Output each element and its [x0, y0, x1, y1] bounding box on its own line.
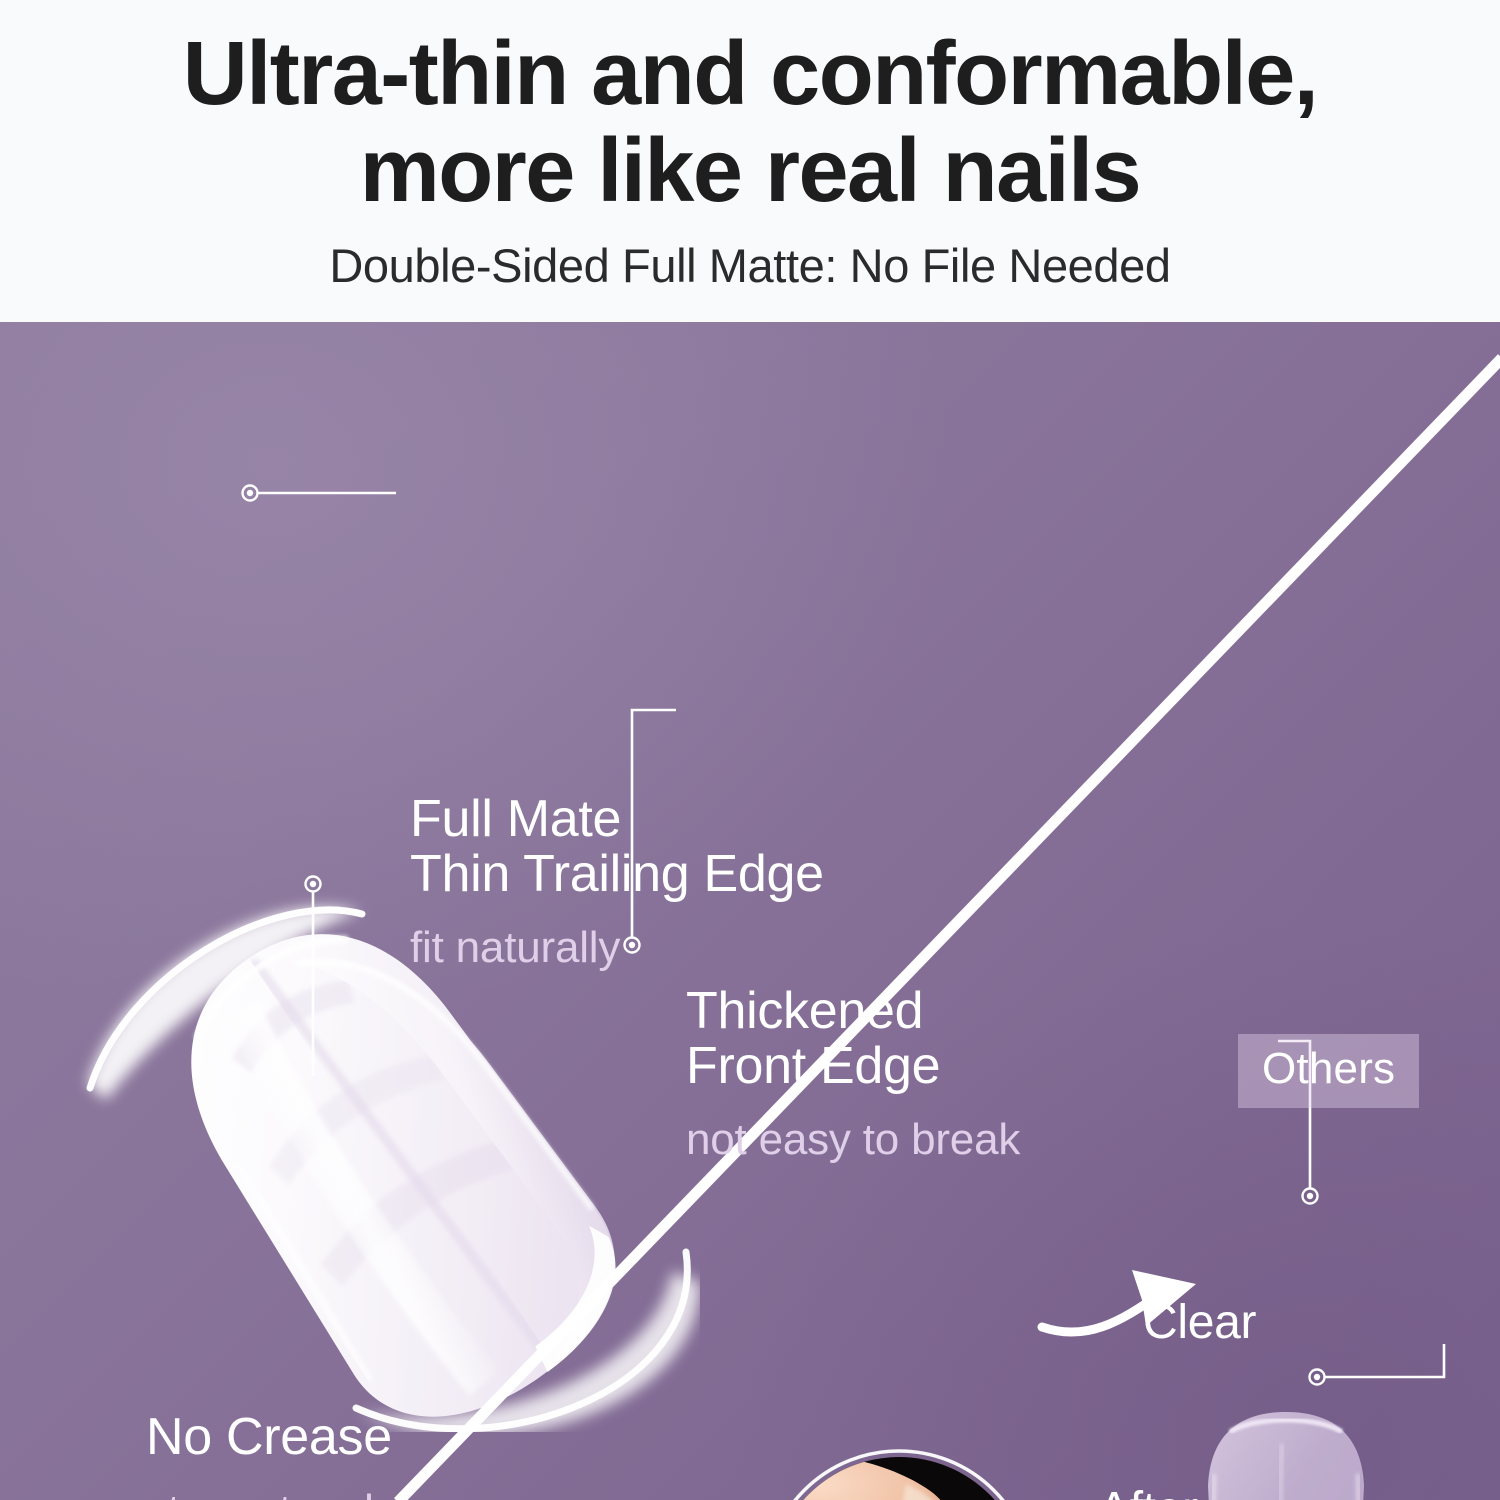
header-banner: Ultra-thin and conformable, more like re…: [0, 0, 1500, 322]
no-crease-sub: strong toughness: [146, 1487, 480, 1500]
label-thickened-front-edge: Thickened Front Edge not easy to break: [686, 984, 1020, 1165]
callout-abs: [1310, 1344, 1445, 1385]
page-title: Ultra-thin and conformable, more like re…: [40, 26, 1460, 220]
photo-content: [754, 1440, 1044, 1500]
thickened-title-2: Front Edge: [686, 1039, 1020, 1094]
badge-others: Others: [1238, 1034, 1419, 1108]
thickened-sub: not easy to break: [686, 1116, 1020, 1164]
label-no-crease: No Crease strong toughness: [146, 1410, 480, 1500]
page-subtitle: Double-Sided Full Matte: No File Needed: [329, 238, 1170, 293]
clear-nail-graphic: [1196, 1404, 1376, 1500]
full-mate-title-2: Thin Trailing Edge: [410, 847, 824, 902]
headline-line-2: more like real nails: [40, 123, 1460, 220]
clear-title: Clear: [1143, 1298, 1256, 1349]
full-mate-title-1: Full Mate: [410, 792, 824, 847]
no-crease-title: No Crease: [146, 1410, 480, 1465]
comparison-stage: Full Mate Thin Trailing Edge fit natural…: [0, 322, 1500, 1500]
label-clear: Clear: [1143, 1298, 1256, 1349]
label-after-bend: After Bend: [1098, 1485, 1209, 1500]
callout-full-mate: [243, 486, 397, 501]
headline-line-1: Ultra-thin and conformable,: [40, 26, 1460, 123]
label-full-mate: Full Mate Thin Trailing Edge fit natural…: [410, 792, 824, 973]
infographic-page: Ultra-thin and conformable, more like re…: [0, 0, 1500, 1500]
thickened-title-1: Thickened: [686, 984, 1020, 1039]
after-bend-title-1: After: [1098, 1485, 1209, 1500]
photo-svg: [754, 1440, 1044, 1500]
full-mate-sub: fit naturally: [410, 924, 824, 972]
bend-demo-photo: [754, 1440, 1044, 1500]
clear-nail-svg: [1196, 1404, 1376, 1500]
clear-nail-body: [1208, 1412, 1364, 1500]
